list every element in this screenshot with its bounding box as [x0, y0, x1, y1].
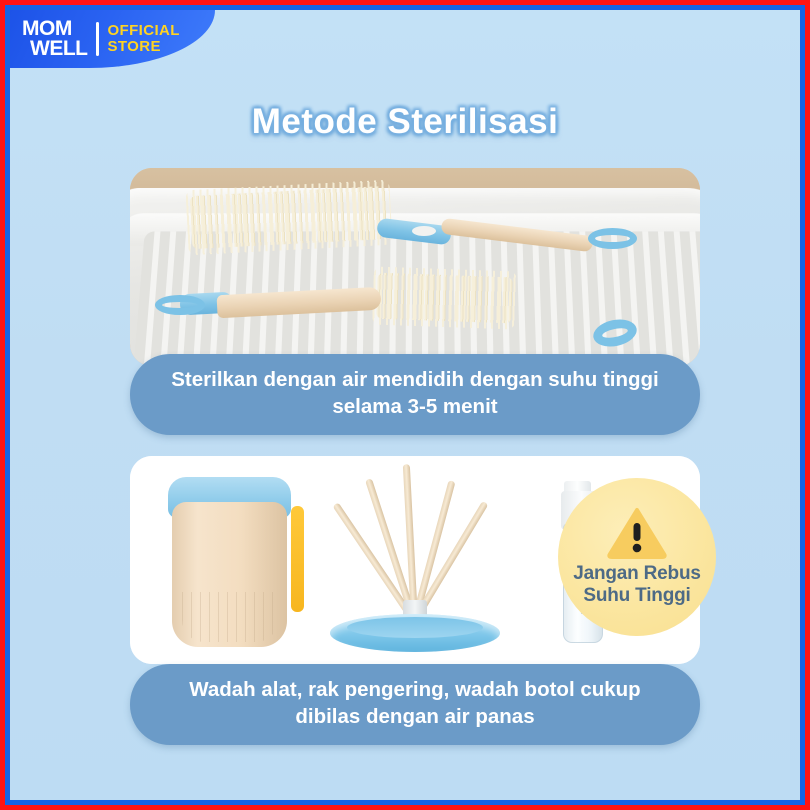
brand-line-2: WELL: [30, 39, 87, 59]
warning-line-1: Jangan Rebus: [573, 563, 700, 585]
drying-tray-scene: [130, 168, 700, 366]
banner-divider: [96, 22, 99, 56]
brush-handle: [216, 287, 381, 318]
warning-text: Jangan Rebus Suhu Tinggi: [573, 563, 700, 607]
warning-triangle-icon: [607, 507, 667, 559]
method-block-boiling: [130, 168, 700, 366]
poster-frame-outer: MOM WELL OFFICIAL STORE Metode Sterilisa…: [0, 0, 810, 810]
container-strap: [291, 506, 303, 612]
official-line-1: OFFICIAL: [107, 23, 179, 39]
caption-boiling-method: Sterilkan dengan air mendidih dengan suh…: [130, 354, 700, 435]
warning-badge: Jangan Rebus Suhu Tinggi: [558, 478, 716, 636]
brush-handle: [441, 217, 594, 252]
brush-bristles: [376, 272, 513, 322]
warning-line-2: Suhu Tinggi: [573, 585, 700, 607]
bottle-brush-large: [181, 184, 671, 279]
official-line-2: STORE: [107, 39, 179, 55]
caption-rinsing-method: Wadah alat, rak pengering, wadah botol c…: [130, 664, 700, 745]
poster-canvas: MOM WELL OFFICIAL STORE Metode Sterilisa…: [10, 10, 800, 800]
photo-bottle-brushes: [130, 168, 700, 366]
drying-rack: [318, 464, 512, 655]
brush-hanging-ring: [588, 228, 637, 249]
container-body: [172, 502, 287, 647]
brush-bristles: [190, 186, 389, 249]
store-banner: MOM WELL OFFICIAL STORE: [10, 10, 215, 68]
brush-hanging-ring: [155, 295, 204, 315]
poster-frame-inner: MOM WELL OFFICIAL STORE Metode Sterilisa…: [5, 5, 805, 805]
tool-container: [164, 477, 301, 648]
rack-base-dish: [330, 614, 501, 652]
brand-logo: MOM WELL: [22, 19, 87, 58]
bottle-brush-small: [147, 271, 557, 362]
brush-grip-hole: [412, 226, 437, 236]
page-title: Metode Sterilisasi: [10, 102, 800, 142]
official-store-label: OFFICIAL STORE: [107, 23, 179, 55]
